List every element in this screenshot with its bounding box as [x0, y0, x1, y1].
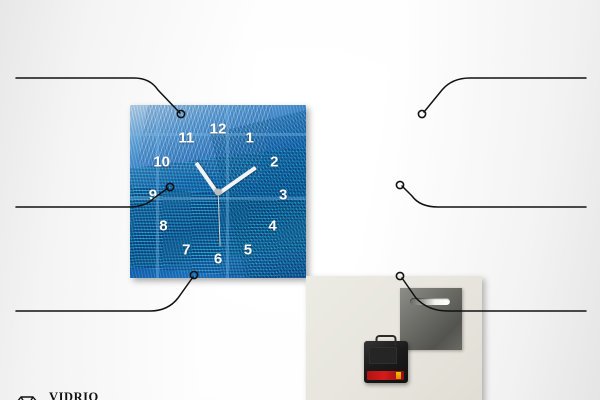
clock-numeral-10: 10 [153, 155, 170, 170]
clock-numeral-4: 4 [268, 219, 276, 234]
clock-mechanism [364, 341, 408, 383]
infographic-canvas: 12 1 2 3 4 5 6 7 8 9 10 11 [0, 0, 600, 400]
clock-numeral-9: 9 [149, 187, 157, 202]
clock-numeral-6: 6 [214, 251, 222, 266]
clock-numeral-7: 7 [182, 243, 190, 258]
mechanism-label [367, 371, 404, 380]
clock-second-hand [217, 192, 220, 246]
mechanism-hook [376, 335, 397, 346]
clock-numeral-8: 8 [159, 219, 167, 234]
hanger-slot [410, 298, 450, 305]
leader-line-mecanismo [402, 186, 586, 207]
clock-minute-hand [217, 165, 257, 195]
mechanism-body [369, 347, 397, 364]
clock-dial: 12 1 2 3 4 5 6 7 8 9 10 11 [130, 105, 306, 278]
leader-endpoint-manejas [418, 110, 425, 117]
clock-numeral-2: 2 [270, 155, 278, 170]
leader-line-bordes [16, 277, 193, 311]
clock-numeral-1: 1 [246, 130, 254, 145]
clock-back-panel [306, 276, 482, 400]
clock-numeral-11: 11 [178, 130, 194, 145]
clock-numeral-5: 5 [244, 243, 252, 258]
clock-numeral-3: 3 [279, 187, 287, 202]
leader-line-manejas [424, 78, 586, 112]
clock-numeral-12: 12 [210, 122, 227, 137]
metal-hanger-plate [400, 288, 462, 350]
diamond-icon [14, 392, 40, 400]
callout-title-line1: VIDRIO [49, 391, 126, 400]
clock-center-cap [215, 188, 222, 195]
clock-front-panel: 12 1 2 3 4 5 6 7 8 9 10 11 [130, 105, 306, 278]
leader-endpoint-mecanismo [396, 181, 403, 188]
callout-vidrio-templado: VIDRIO TEMPLADO Resistencia a grietas y … [14, 391, 226, 400]
